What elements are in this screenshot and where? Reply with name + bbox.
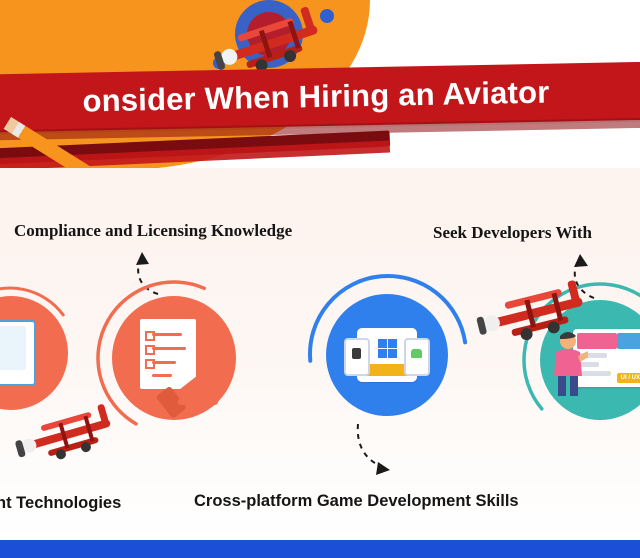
legal-document-gavel-icon: [138, 317, 198, 391]
infographic-canvas: onsider When Hiring an Aviator: [0, 0, 640, 558]
apple-phone-icon: [344, 338, 370, 376]
uiux-badge: UI / UX: [617, 373, 640, 383]
footer-blue-bar: [0, 540, 640, 558]
label-left-partial: nt Technologies: [0, 494, 121, 513]
node-crossplatform[interactable]: [326, 294, 448, 416]
biplane-left-icon: [10, 400, 130, 470]
label-compliance: Compliance and Licensing Knowledge: [14, 221, 292, 241]
node-compliance[interactable]: [112, 296, 236, 420]
label-crossplatform: Cross-platform Game Development Skills: [194, 492, 519, 511]
footer-white-gap: [0, 530, 640, 540]
multi-device-platform-icon: [357, 328, 417, 382]
label-uiux: Seek Developers With: [433, 223, 592, 243]
android-phone-icon: [404, 338, 430, 376]
biplane-right-icon: [472, 276, 602, 352]
